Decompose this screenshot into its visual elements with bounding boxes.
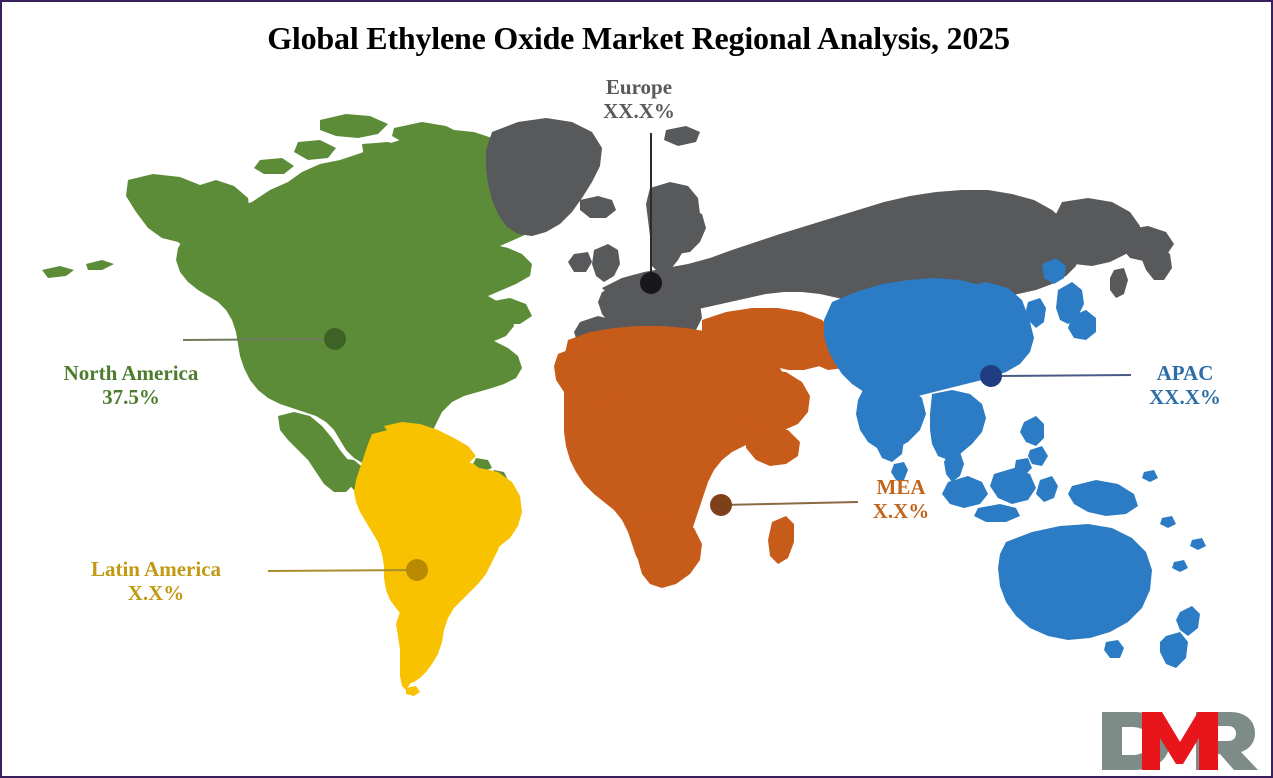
dmr-logo <box>1100 708 1260 770</box>
region-value-latin-america: X.X% <box>50 582 262 606</box>
map-region-mea[interactable] <box>554 308 862 588</box>
marker-dot-apac[interactable] <box>980 365 1002 387</box>
regional-analysis-infographic: Global Ethylene Oxide Market Regional An… <box>0 0 1273 778</box>
marker-dot-europe[interactable] <box>640 272 662 294</box>
leader-line-apac <box>991 375 1131 376</box>
region-label-mea: MEA X.X% <box>830 476 972 523</box>
region-name-north-america: North America <box>24 362 238 386</box>
map-region-apac[interactable] <box>824 258 1206 668</box>
region-name-latin-america: Latin America <box>50 558 262 582</box>
map-region-latin-america[interactable] <box>354 422 522 696</box>
marker-dot-north-america[interactable] <box>324 328 346 350</box>
region-name-europe: Europe <box>550 76 728 100</box>
region-label-north-america: North America 37.5% <box>24 362 238 409</box>
region-value-apac: XX.X% <box>1114 386 1256 410</box>
region-value-mea: X.X% <box>830 500 972 524</box>
logo-letter-m <box>1142 712 1218 770</box>
region-name-mea: MEA <box>830 476 972 500</box>
region-label-latin-america: Latin America X.X% <box>50 558 262 605</box>
region-value-north-america: 37.5% <box>24 386 238 410</box>
leader-line-north-america <box>183 339 335 340</box>
region-name-apac: APAC <box>1114 362 1256 386</box>
marker-dot-latin-america[interactable] <box>406 559 428 581</box>
leader-line-latin-america <box>268 570 417 571</box>
marker-dot-mea[interactable] <box>710 494 732 516</box>
region-value-europe: XX.X% <box>550 100 728 124</box>
region-label-apac: APAC XX.X% <box>1114 362 1256 409</box>
region-label-europe: Europe XX.X% <box>550 76 728 123</box>
